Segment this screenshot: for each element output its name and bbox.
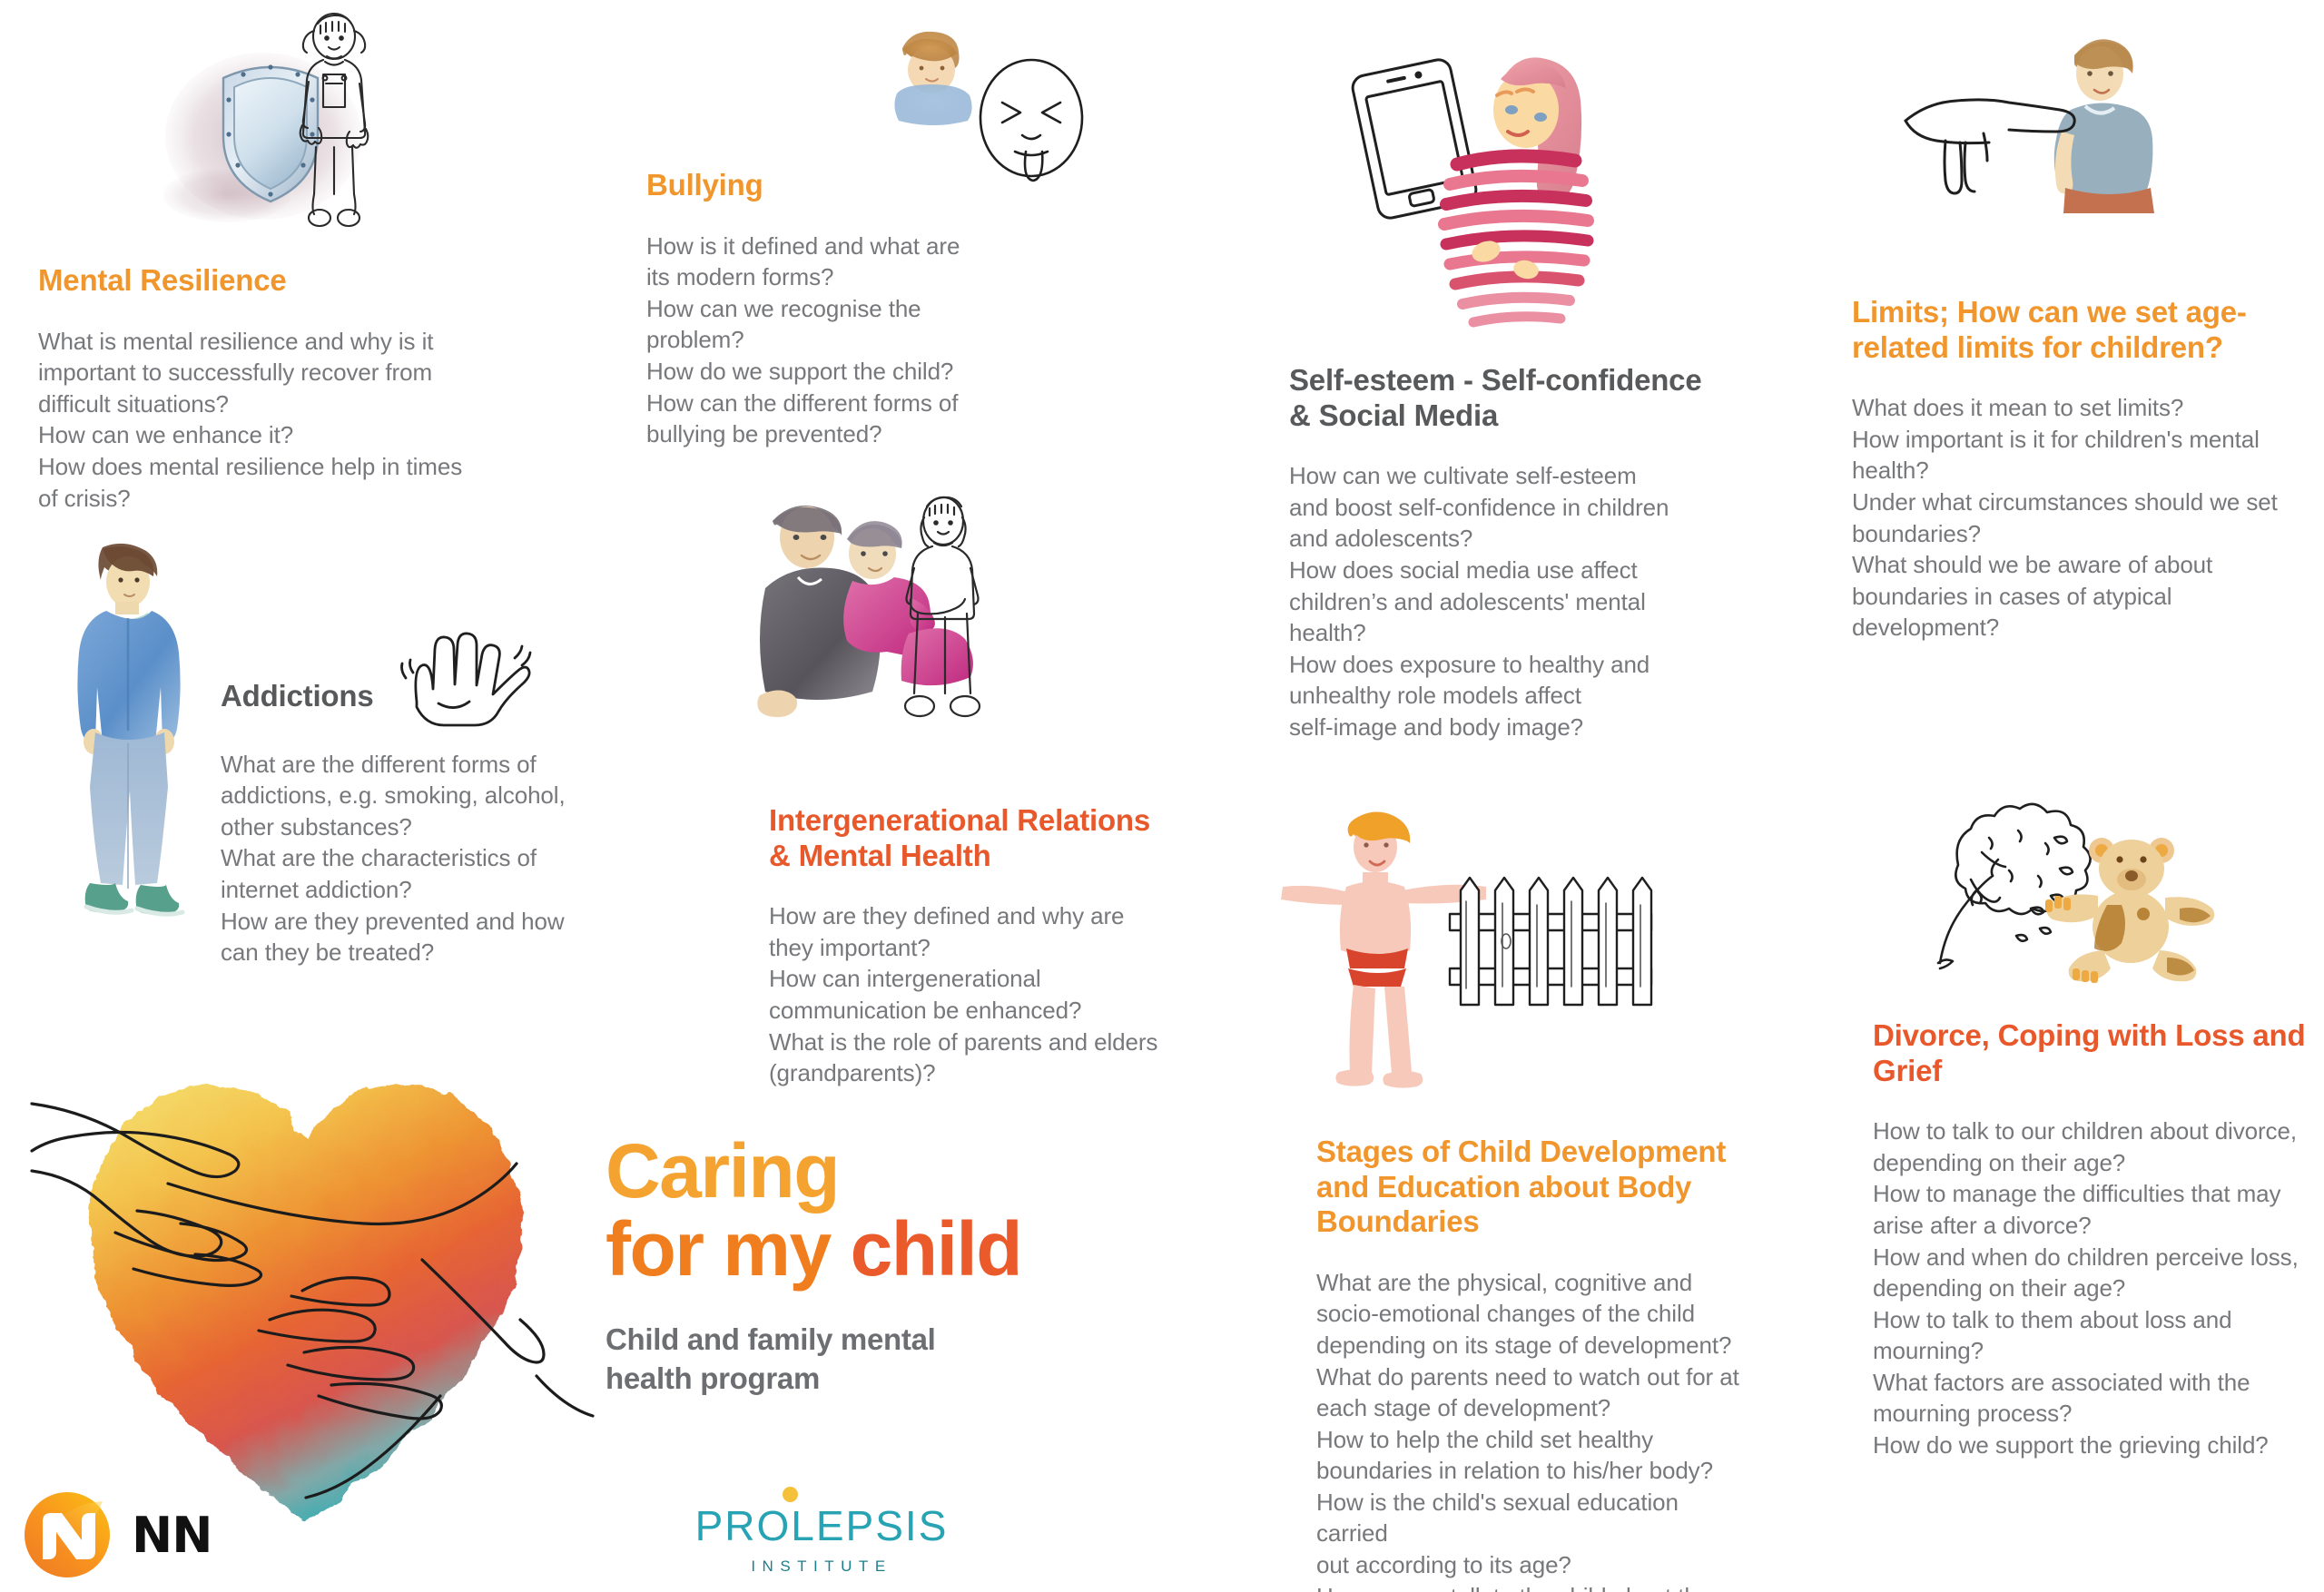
hand-stopping-boy-illustration: [1893, 23, 2192, 213]
teen-boy-illustration: [59, 540, 231, 930]
section-limits: Limits; How can we set age-related limit…: [1852, 295, 2288, 644]
section-body: What does it mean to set limits? How imp…: [1852, 392, 2288, 644]
nn-logo[interactable]: NN: [23, 1490, 212, 1579]
page-title: Caring for my child: [606, 1133, 1078, 1288]
section-title: Mental Resilience: [38, 263, 492, 299]
section-title: Bullying: [646, 168, 1009, 203]
title-line-2-a: for my: [606, 1206, 851, 1292]
section-body: What are the physical, cognitive and soc…: [1316, 1267, 1752, 1592]
shield-and-girl-illustration: [136, 0, 436, 263]
title-line-2: for my child: [606, 1211, 1078, 1289]
poster: Mental Resilience What is mental resilie…: [0, 0, 2324, 1592]
section-title: Stages of Child Development and Educatio…: [1316, 1135, 1752, 1240]
section-title: Limits; How can we set age-related limit…: [1852, 295, 2288, 365]
prolepsis-wordmark: PROLEPSIS: [695, 1505, 949, 1547]
section-title: Divorce, Coping with Loss and Grief: [1873, 1018, 2324, 1088]
title-line-2-b: child: [851, 1206, 1022, 1292]
section-title: Intergenerational Relations & Mental Hea…: [769, 803, 1177, 873]
prolepsis-logo[interactable]: PROLEPSIS INSTITUTE: [690, 1505, 953, 1576]
section-divorce-loss-grief: Divorce, Coping with Loss and Grief How …: [1873, 1018, 2324, 1461]
prolepsis-subtitle: INSTITUTE: [690, 1558, 953, 1576]
boy-and-fence-illustration: [1275, 803, 1684, 1112]
prolepsis-word-text: PROLEPSIS: [695, 1502, 949, 1549]
nn-wordmark: NN: [132, 1507, 212, 1564]
section-body: What is mental resilience and why is it …: [38, 326, 492, 514]
section-body: What are the different forms of addictio…: [221, 749, 602, 968]
section-self-esteem-social-media: Self-esteem - Self-confidence & Social M…: [1289, 363, 1716, 742]
nn-arrow-circle-icon: [23, 1490, 112, 1579]
section-body: How to talk to our children about divorc…: [1873, 1115, 2324, 1460]
section-mental-resilience: Mental Resilience What is mental resilie…: [38, 263, 492, 514]
smartphone-and-girl-illustration: [1348, 23, 1639, 359]
grandparents-and-granddaughter-illustration: [740, 481, 1021, 771]
section-body: How can we cultivate self-esteem and boo…: [1289, 460, 1716, 742]
page-subtitle: Child and family mental health program: [606, 1321, 1078, 1399]
section-bullying: Bullying How is it defined and what are …: [646, 168, 1009, 450]
watercolor-heart-with-hands-illustration: [32, 1017, 595, 1561]
prolepsis-dot-icon: [783, 1487, 798, 1502]
section-body: How is it defined and what are its moder…: [646, 231, 1009, 450]
section-stages-of-child-development: Stages of Child Development and Educatio…: [1316, 1135, 1752, 1592]
section-addictions: Addictions What are the different forms …: [221, 679, 602, 968]
section-title: Self-esteem - Self-confidence & Social M…: [1289, 363, 1716, 433]
section-title: Addictions: [221, 679, 602, 714]
section-intergenerational-relations: Intergenerational Relations & Mental Hea…: [769, 803, 1177, 1089]
section-body: How are they defined and why are they im…: [769, 900, 1177, 1088]
title-line-1: Caring: [606, 1133, 1078, 1211]
brand-title-block: Caring for my child Child and family men…: [606, 1133, 1078, 1399]
tree-and-teddy-bear-illustration: [1938, 785, 2265, 994]
